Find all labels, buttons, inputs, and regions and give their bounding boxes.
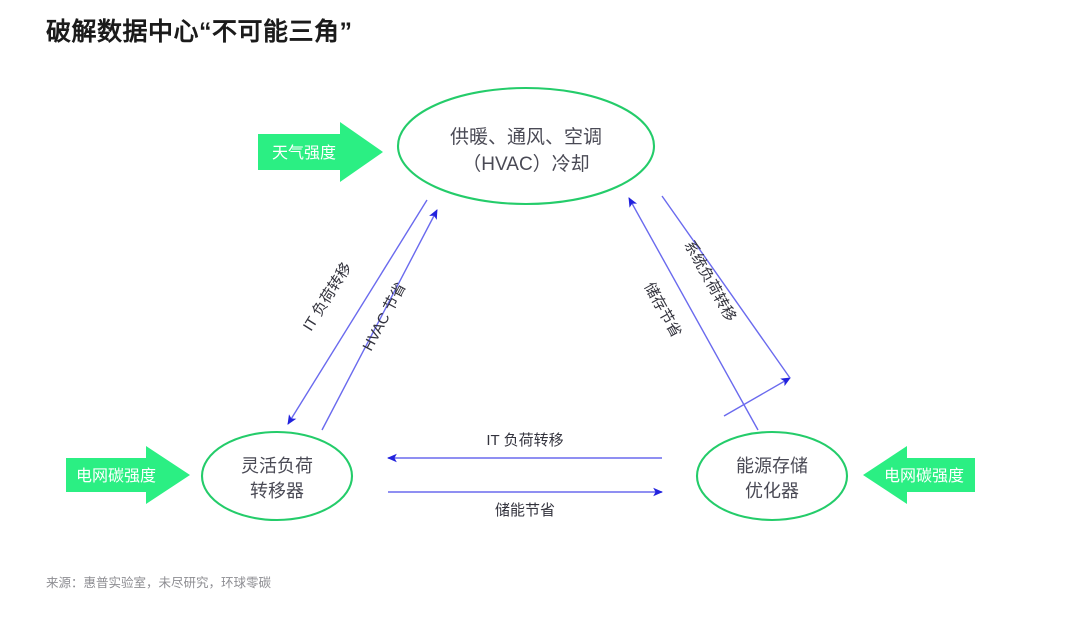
node-hvac-label-line1: 供暖、通风、空调 xyxy=(450,126,602,148)
edge-it-load-shift-bottom-label: IT 负荷转移 xyxy=(486,432,563,449)
grid-carbon-right-label: 电网碳强度 xyxy=(884,467,964,485)
edge-it-load-shift-bottom: IT 负荷转移 xyxy=(388,432,662,458)
edge-system-load-shift: 系统负荷转移 xyxy=(662,196,790,416)
edge-hvac-saving: HVAC 节省 xyxy=(322,210,437,430)
diagram-canvas: 天气强度 电网碳强度 电网碳强度 IT 负荷转移 HVAC 节省 储存节省 系统… xyxy=(0,0,1080,624)
node-flexible-load-shifter-label-line1: 灵活负荷 xyxy=(241,456,313,476)
edge-storage-energy-saving-label: 储能节省 xyxy=(495,502,555,519)
edge-it-load-shift-left-label: IT 负荷转移 xyxy=(300,260,355,335)
node-flexible-load-shifter-ellipse xyxy=(202,432,352,520)
external-input-grid-carbon-left: 电网碳强度 xyxy=(66,446,190,504)
edge-it-load-shift-left: IT 负荷转移 xyxy=(288,200,427,424)
node-energy-storage-optimizer[interactable]: 能源存储 优化器 xyxy=(697,432,847,520)
edge-system-load-shift-line-main xyxy=(662,196,790,378)
edge-system-load-shift-label: 系统负荷转移 xyxy=(681,238,740,325)
node-energy-storage-optimizer-label-line2: 优化器 xyxy=(745,481,799,501)
edge-storage-energy-saving: 储能节省 xyxy=(388,492,662,519)
node-flexible-load-shifter[interactable]: 灵活负荷 转移器 xyxy=(202,432,352,520)
grid-carbon-left-label: 电网碳强度 xyxy=(76,467,156,485)
node-energy-storage-optimizer-ellipse xyxy=(697,432,847,520)
external-input-grid-carbon-right: 电网碳强度 xyxy=(863,446,975,504)
external-input-weather-intensity: 天气强度 xyxy=(258,122,383,182)
node-energy-storage-optimizer-label-line1: 能源存储 xyxy=(736,456,808,476)
node-hvac[interactable]: 供暖、通风、空调 （HVAC）冷却 xyxy=(398,88,654,204)
weather-intensity-label: 天气强度 xyxy=(272,144,336,162)
edge-system-load-shift-line xyxy=(724,378,790,416)
node-hvac-label-line2: （HVAC）冷却 xyxy=(462,153,589,175)
source-note: 来源：惠普实验室，未尽研究，环球零碳 xyxy=(46,572,271,591)
edge-storage-saving-label: 储存节省 xyxy=(641,280,685,341)
edge-hvac-saving-label: HVAC 节省 xyxy=(360,280,410,354)
node-flexible-load-shifter-label-line2: 转移器 xyxy=(250,481,304,501)
